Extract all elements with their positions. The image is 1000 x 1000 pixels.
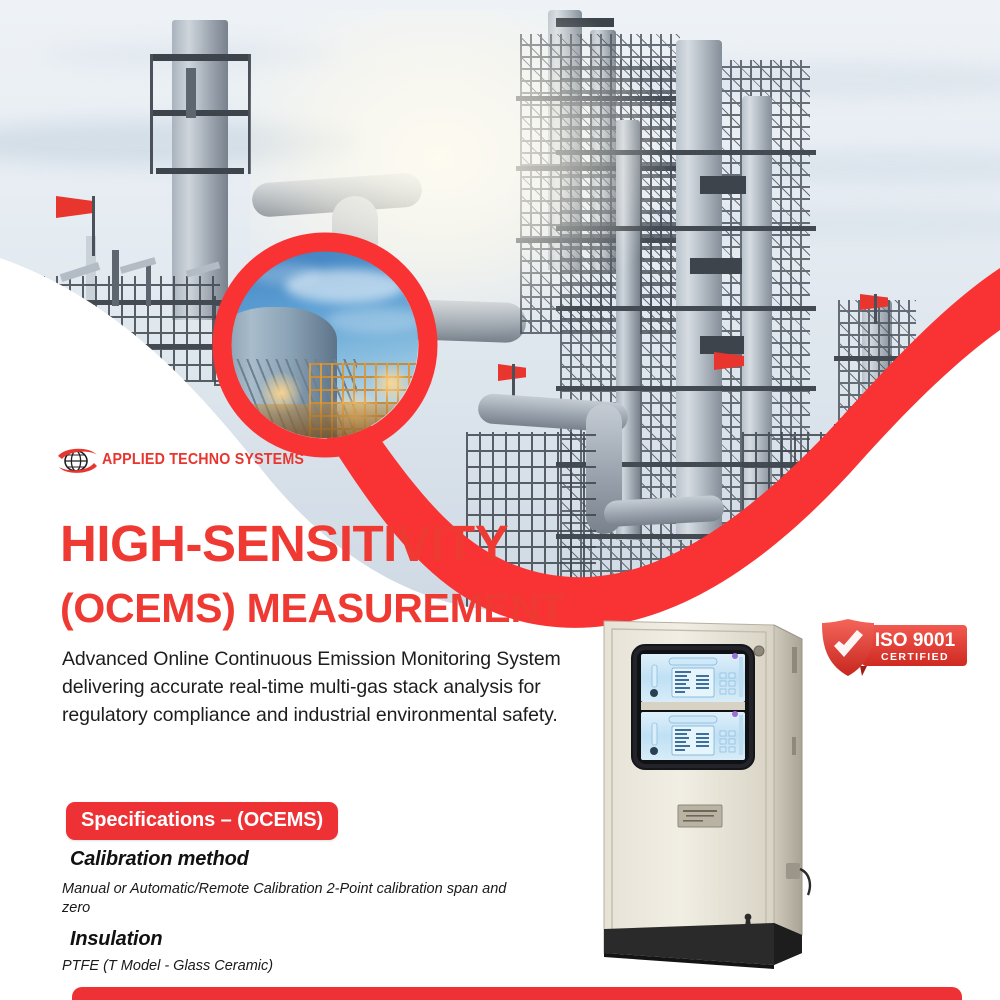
intro-paragraph: Advanced Online Continuous Emission Moni… [62, 646, 562, 730]
iso-certification-badge: ISO 9001 CERTIFIED [818, 616, 973, 684]
page-title-line2: (OCEMS) MEASUREMENT [60, 588, 680, 629]
iso-status-text: CERTIFIED [881, 651, 949, 663]
company-name: APPLIED TECHNO SYSTEMS [102, 451, 304, 469]
product-image-ocems-cabinet [596, 617, 822, 983]
iso-standard-text: ISO 9001 [875, 630, 956, 651]
company-logo: APPLIED TECHNO SYSTEMS [56, 447, 256, 477]
spec-heading-insulation: Insulation [70, 928, 162, 951]
spec-body-insulation: PTFE (T Model - Glass Ceramic) [62, 957, 532, 976]
spec-body-calibration: Manual or Automatic/Remote Calibration 2… [62, 880, 532, 919]
specifications-pill: Specifications – (OCEMS) [66, 802, 338, 840]
flyer-page: APPLIED TECHNO SYSTEMS HIGH-SENSITIVITY … [0, 0, 1000, 1000]
magnifier-inset-photo [231, 251, 418, 438]
page-title-line1: HIGH-SENSITIVITY [60, 519, 620, 569]
footer-red-band [72, 987, 962, 1000]
spec-heading-calibration: Calibration method [70, 848, 249, 871]
globe-swoosh-logo-icon [56, 447, 100, 475]
